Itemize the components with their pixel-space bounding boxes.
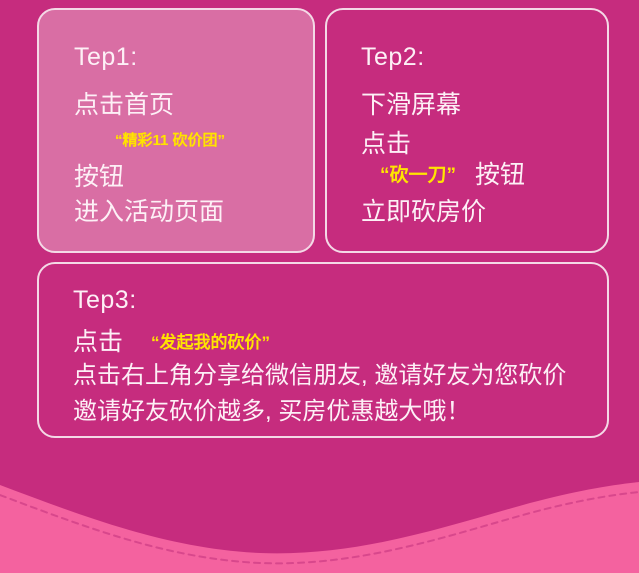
step-1-line-1: 点击首页 [74,93,174,118]
wave-dashed-line [0,492,639,563]
step-card-3-content: Tep3: 点击 “发起我的砍价” 点击右上角分享给微信朋友, 邀请好友为您砍价… [39,264,607,436]
decorative-wave [0,433,639,573]
step-2-highlight: “砍一刀” [380,166,456,185]
step-1-line-3: 进入活动页面 [74,200,224,225]
step-card-3[interactable]: Tep3: 点击 “发起我的砍价” 点击右上角分享给微信朋友, 邀请好友为您砍价… [37,262,609,438]
step-1-highlight: “精彩11 砍价团” [115,133,225,148]
step-card-2[interactable]: Tep2: 下滑屏幕 点击 “砍一刀” 按钮 立即砍房价 [325,8,609,253]
step-card-1[interactable]: Tep1: 点击首页 “精彩11 砍价团” 按钮 进入活动页面 [37,8,315,253]
step-2-line-3: 按钮 [475,163,525,188]
promo-steps-panel: Tep1: 点击首页 “精彩11 砍价团” 按钮 进入活动页面 Tep2: 下滑… [0,0,639,573]
step-2-line-1: 下滑屏幕 [361,93,461,118]
step-2-line-4: 立即砍房价 [361,200,486,225]
step-1-title: Tep1: [74,45,138,70]
step-card-1-content: Tep1: 点击首页 “精彩11 砍价团” 按钮 进入活动页面 [39,10,313,251]
step-3-title: Tep3: [73,288,137,313]
step-3-line-3: 邀请好友砍价越多, 买房优惠越大哦！ [73,400,470,424]
wave-fill-shape [0,482,639,573]
step-3-highlight: “发起我的砍价” [151,334,270,351]
step-card-2-content: Tep2: 下滑屏幕 点击 “砍一刀” 按钮 立即砍房价 [327,10,607,251]
step-2-line-2: 点击 [361,132,411,157]
step-2-title: Tep2: [361,45,425,70]
step-1-line-2: 按钮 [74,165,124,190]
step-3-line-2: 点击右上角分享给微信朋友, 邀请好友为您砍价 [73,364,566,388]
step-3-line-1: 点击 [73,330,123,355]
